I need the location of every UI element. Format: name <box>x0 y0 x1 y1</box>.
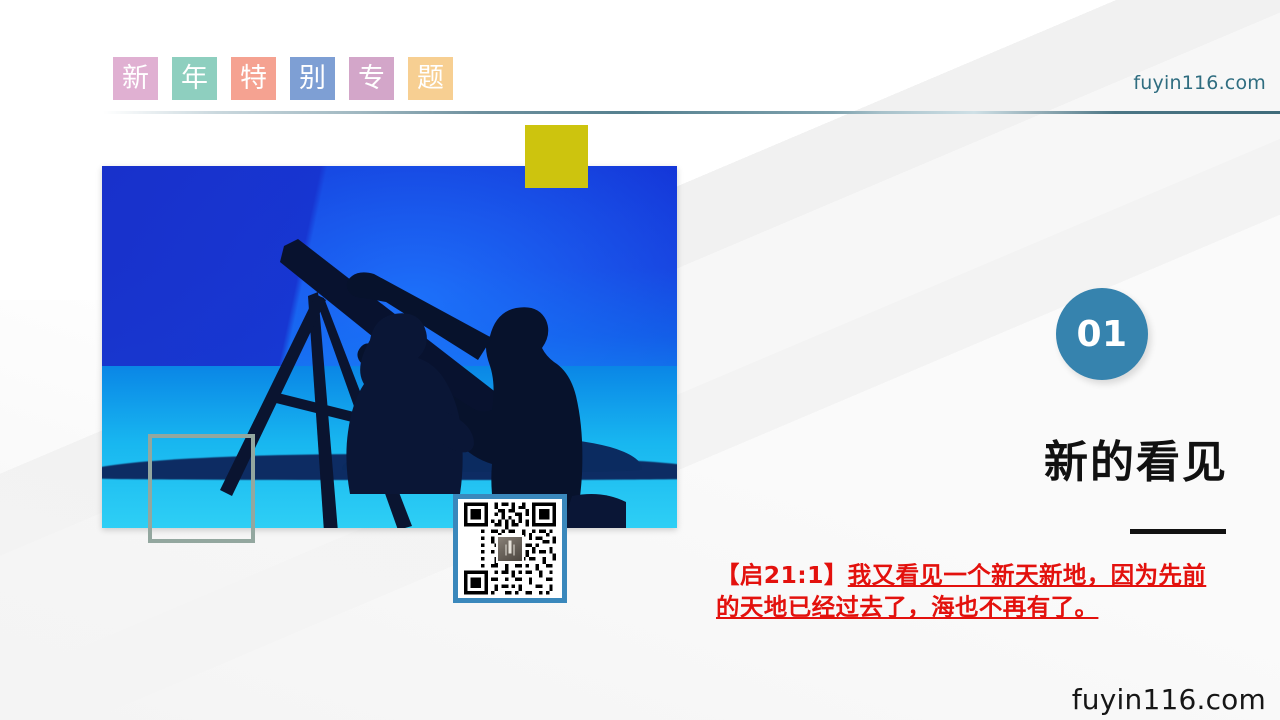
scripture-quote: 【启21:1】我又看见一个新天新地，因为先前的天地已经过去了，海也不再有了。 <box>716 560 1228 624</box>
header-brand-text: fuyin116.com <box>1133 72 1266 94</box>
header-tile-6: 题 <box>408 57 453 100</box>
header-title-tiles: 新 年 特 别 专 题 <box>113 57 453 100</box>
header-tile-2: 年 <box>172 57 217 100</box>
header-divider-rule <box>103 111 1280 114</box>
header-tile-1: 新 <box>113 57 158 100</box>
header-tile-6-char: 题 <box>417 65 444 92</box>
qr-center-logo-icon <box>496 535 524 563</box>
presentation-slide: 新 年 特 别 专 题 fuyin116.com <box>0 0 1280 720</box>
header-tile-5-char: 专 <box>358 65 385 92</box>
section-title: 新的看见 <box>700 426 1228 490</box>
header-tile-4-char: 别 <box>299 65 326 92</box>
scripture-reference: 【启21:1】 <box>716 561 848 589</box>
header-tile-3: 特 <box>231 57 276 100</box>
qr-code-inner <box>458 499 562 598</box>
outlined-accent-square <box>148 434 255 543</box>
header-tile-4: 别 <box>290 57 335 100</box>
qr-code[interactable] <box>453 494 567 603</box>
section-number-text: 01 <box>1076 314 1127 355</box>
section-number-badge: 01 <box>1056 288 1148 380</box>
yellow-accent-square <box>525 125 588 188</box>
footer-brand-text: fuyin116.com <box>1072 683 1266 716</box>
header-tile-3-char: 特 <box>240 65 267 92</box>
section-title-underline-rule <box>1130 529 1226 534</box>
header-tile-2-char: 年 <box>181 65 208 92</box>
header-tile-1-char: 新 <box>122 65 149 92</box>
header-tile-5: 专 <box>349 57 394 100</box>
